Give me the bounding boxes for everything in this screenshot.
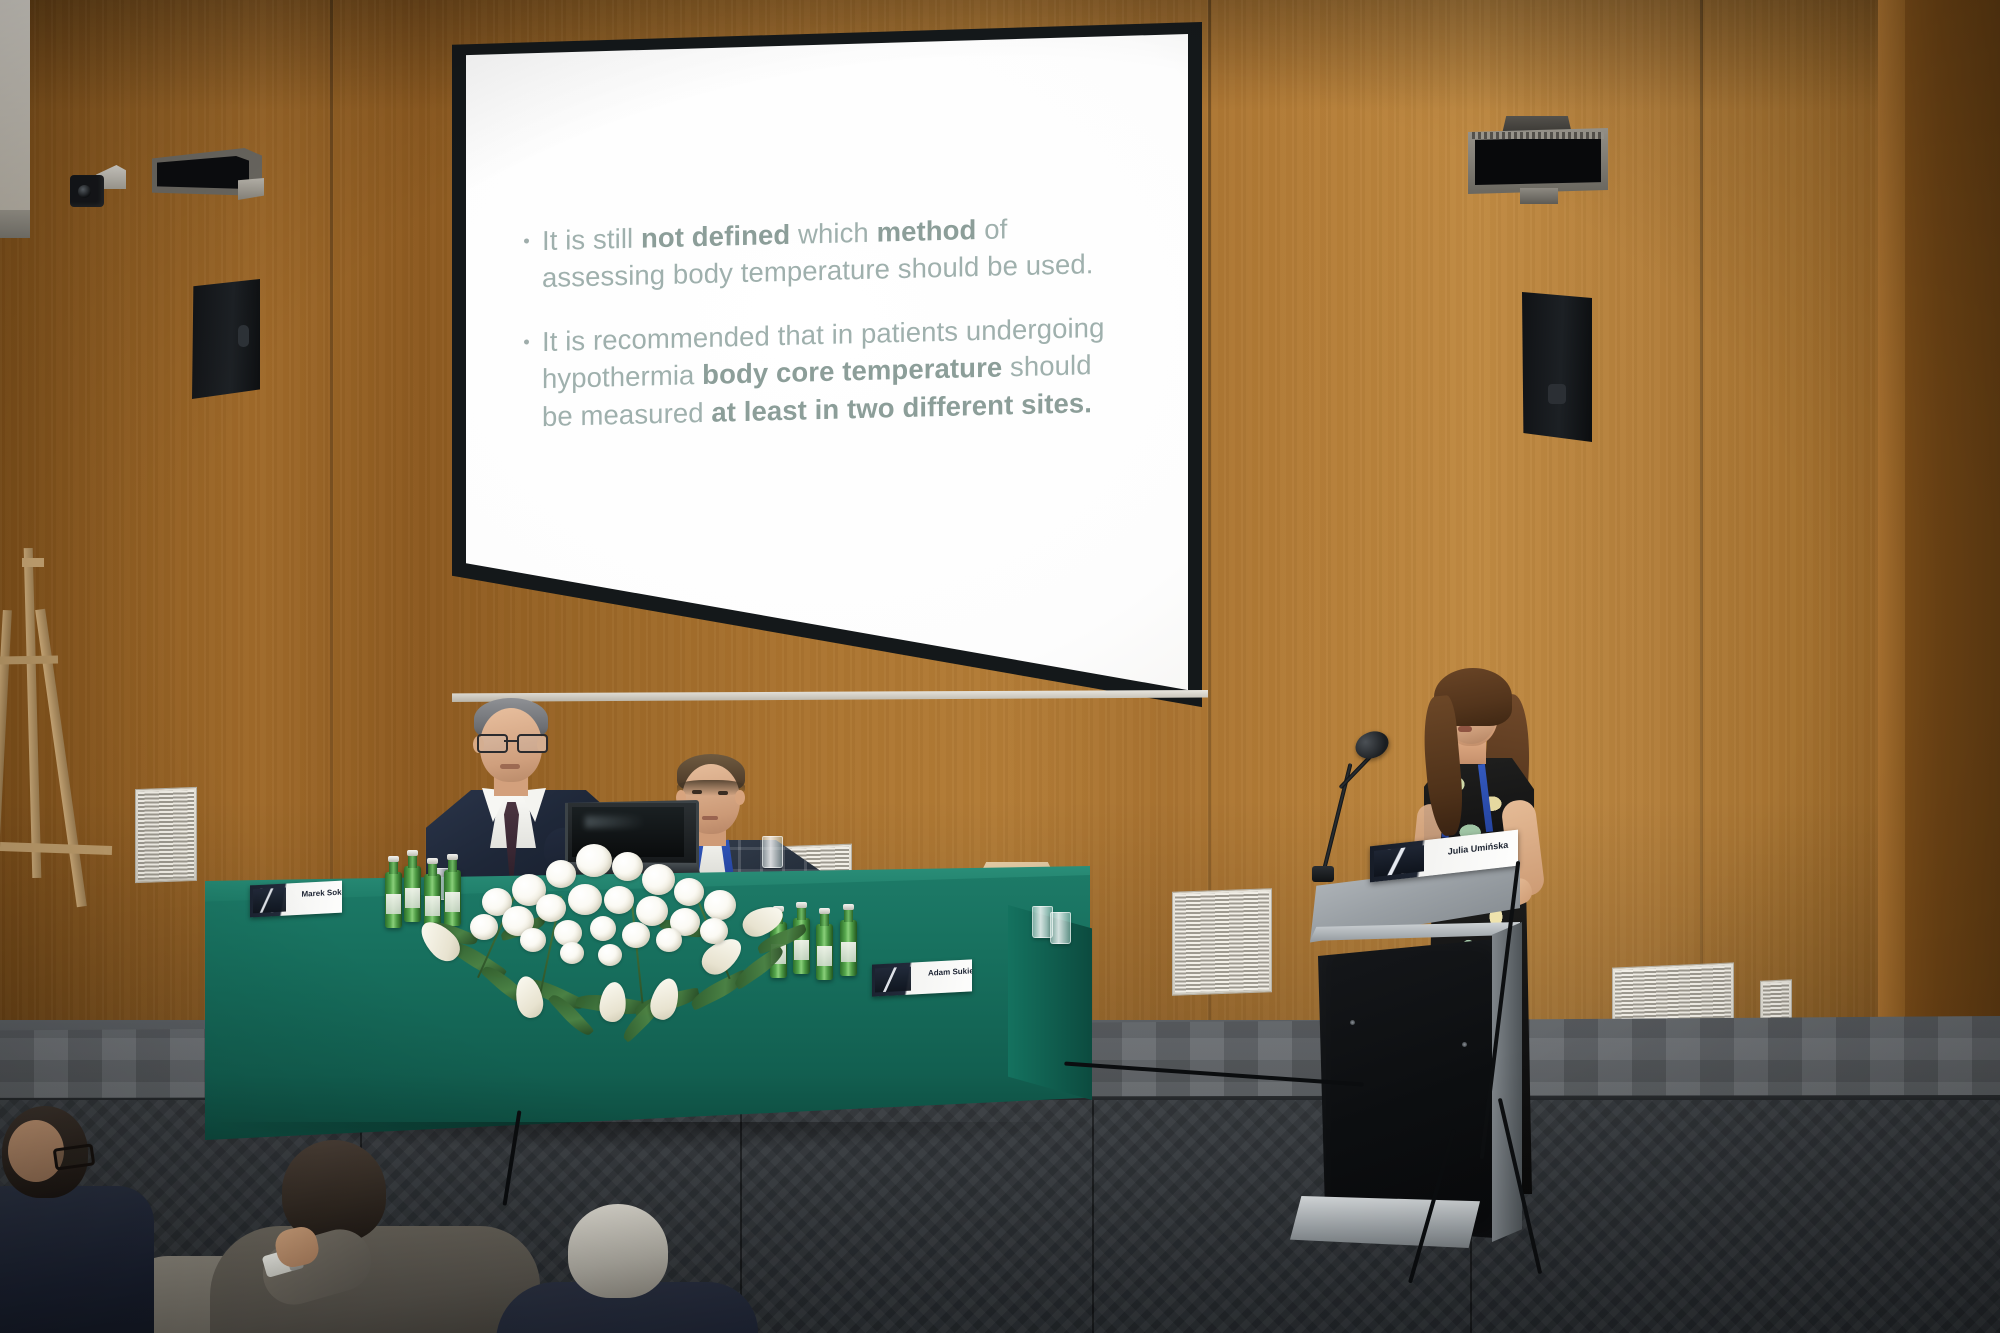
white-rose: [560, 942, 584, 964]
audience-member-1: [0, 1106, 142, 1333]
easel-crossbar-lower: [0, 842, 112, 855]
easel-left-leg: [0, 610, 12, 872]
nameplate-logo: [253, 888, 286, 914]
monitor-screen: [1475, 137, 1601, 185]
drinking-glass[interactable]: [1050, 912, 1071, 944]
water-bottle[interactable]: [404, 866, 421, 922]
water-bottle[interactable]: [840, 920, 857, 976]
white-rose: [704, 890, 736, 920]
white-rose: [546, 860, 576, 888]
white-rose: [674, 878, 704, 906]
monitor-vent-strip: [1472, 132, 1604, 139]
podium-front-panel: [1318, 938, 1504, 1238]
podium-screw: [1462, 1042, 1467, 1047]
floral-arrangement: [420, 830, 820, 1020]
wall-monitor-left: [152, 148, 262, 196]
panelist-mouth: [702, 816, 718, 820]
panelist-eye-right: [718, 791, 728, 795]
wall-corner-band: [1878, 0, 1908, 1110]
easel-top-cap: [22, 558, 44, 567]
wall-upper-left-white: [0, 0, 30, 225]
white-rose: [622, 922, 650, 948]
nameplate-left-subtitle: [296, 901, 342, 903]
wooden-easel: [0, 548, 130, 920]
audience-member-3: [512, 1204, 742, 1333]
laptop-screen-glow: [585, 816, 645, 828]
lens-right: [517, 734, 548, 753]
slide-bullet-2: It is recommended that in patients under…: [524, 307, 1164, 435]
slide-bullet-1: It is still not defined which method ofa…: [524, 206, 1164, 297]
white-rose: [642, 864, 675, 895]
wall-vent: [135, 787, 197, 883]
wall-speaker-right: [1522, 292, 1592, 442]
slide-bullet-1-text: It is still not defined which method ofa…: [542, 208, 1094, 297]
white-rose: [576, 844, 612, 877]
chair-mouth: [500, 764, 520, 769]
speaker-mount-knob: [238, 325, 249, 347]
bottle-label: [386, 894, 401, 914]
white-rose: [612, 852, 643, 881]
white-rose: [598, 944, 622, 966]
bottle-label: [841, 942, 856, 962]
podium-side-panel: [1492, 922, 1522, 1242]
panelist-ear-right: [735, 790, 745, 805]
podium-base-plinth: [1290, 1196, 1480, 1248]
nameplate-left-name: Marek Sokolowski: [302, 888, 342, 899]
speaker-mount-knob: [1548, 384, 1566, 404]
bottle-label: [405, 888, 420, 908]
nameplate-right-name: Adam Sukiennik: [928, 966, 972, 977]
podium-screw: [1350, 1020, 1355, 1025]
bullet-dot-icon: [524, 238, 529, 243]
audience-1-glasses-icon: [53, 1143, 96, 1170]
white-rose: [520, 928, 546, 952]
wall-vent: [1172, 888, 1272, 995]
wall-speaker-left: [192, 279, 260, 399]
audience-2-body: [210, 1226, 540, 1333]
white-rose: [700, 918, 728, 944]
nameplate-right: Adam Sukiennik: [872, 959, 972, 996]
audience-member-2: [220, 1140, 520, 1333]
eyeglasses-icon: [476, 734, 546, 750]
monitor-wall-mount: [1520, 188, 1558, 204]
lectern-podium: [1310, 860, 1520, 1250]
white-rose: [604, 886, 634, 914]
audience-1-body: [0, 1186, 154, 1333]
conference-hall-photo: It is still not defined which method ofa…: [0, 0, 2000, 1333]
white-rose: [568, 884, 602, 915]
wall-seam: [1700, 0, 1703, 1110]
easel-crossbar-upper: [0, 655, 58, 664]
bullet-dot-icon: [524, 339, 529, 344]
wall-camera-icon: [70, 165, 118, 211]
easel-center-post: [24, 548, 42, 878]
nameplate-logo: [875, 967, 911, 993]
white-rose: [536, 894, 566, 922]
easel-right-leg: [35, 609, 87, 907]
wall-monitor-right: [1468, 128, 1608, 194]
glasses-bridge: [504, 740, 517, 742]
slide-bullet-2-text: It is recommended that in patients under…: [542, 309, 1104, 435]
podium-nameplate-logo: [1374, 845, 1424, 877]
presenter-mouth: [1458, 726, 1472, 732]
water-bottle[interactable]: [385, 872, 402, 928]
nameplate-right-subtitle: [922, 979, 972, 982]
nameplate-left: Marek Sokolowski: [250, 881, 342, 918]
white-rose: [656, 928, 682, 952]
camera-lens: [78, 185, 91, 198]
white-rose: [470, 914, 498, 940]
podium-nameplate-name: Julia Umińska: [1441, 839, 1515, 857]
wall-upper-left-shadow: [0, 210, 30, 238]
wall-recess: [1905, 0, 2000, 1110]
white-rose: [590, 916, 616, 941]
audience-3-head: [568, 1204, 668, 1298]
panelist-eye-left: [692, 790, 702, 794]
lens-left: [477, 734, 508, 753]
white-rose: [636, 896, 668, 926]
slide-bullet-list: It is still not defined which method ofa…: [524, 206, 1164, 461]
